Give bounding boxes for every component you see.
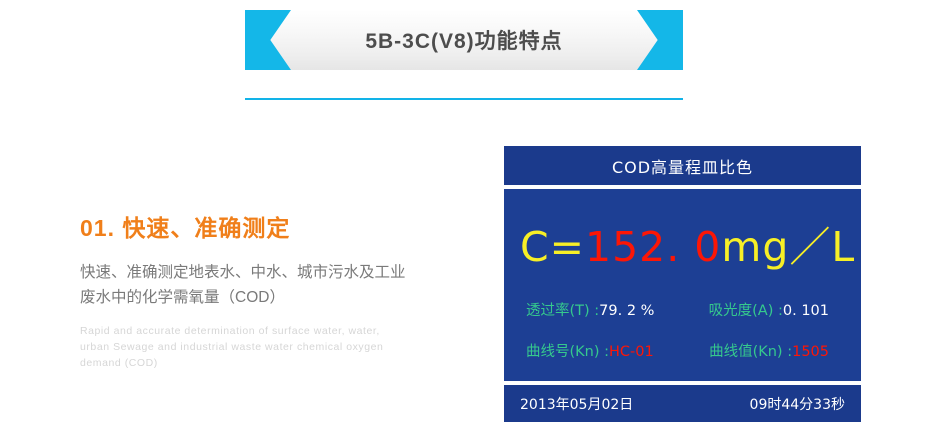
section-banner: 5B-3C(V8)功能特点	[245, 10, 683, 70]
curve-value-value: 1505	[792, 344, 829, 360]
device-mode-title: COD高量程皿比色	[612, 154, 753, 178]
device-main-reading: C=152. 0mg／L	[520, 189, 845, 273]
feature-heading: 01. 快速、准确测定	[80, 215, 430, 243]
curve-number-value: HC-01	[609, 344, 654, 360]
device-row-curve: 曲线号(Kn) :HC-01 曲线值(Kn) :1505	[520, 340, 845, 361]
reading-value: 152. 0	[585, 223, 721, 271]
transmittance-label: 透过率(T) :	[526, 303, 599, 319]
device-row-transmittance: 透过率(T) :79. 2 % 吸光度(A) :0. 101	[520, 299, 845, 320]
feature-body-text: 快速、准确测定地表水、中水、城市污水及工业废水中的化学需氧量（COD）	[80, 260, 410, 310]
absorbance-cell: 吸光度(A) :0. 101	[709, 299, 829, 320]
transmittance-value: 79. 2 %	[599, 303, 654, 319]
feature-text-column: 01. 快速、准确测定 快速、准确测定地表水、中水、城市污水及工业废水中的化学需…	[80, 215, 430, 372]
feature-subtitle-english: Rapid and accurate determination of surf…	[80, 323, 400, 372]
page-title: 5B-3C(V8)功能特点	[245, 10, 683, 70]
curve-value-label: 曲线值(Kn) :	[709, 344, 792, 360]
reading-unit: mg／L	[721, 223, 855, 271]
absorbance-value: 0. 101	[783, 303, 829, 319]
banner-underline-divider	[245, 98, 683, 100]
absorbance-label: 吸光度(A) :	[709, 303, 783, 319]
device-date: 2013年05月02日	[520, 394, 633, 414]
device-screen-footer: 2013年05月02日 09时44分33秒	[504, 385, 861, 422]
reading-prefix: C=	[520, 223, 585, 271]
device-screen-header: COD高量程皿比色	[504, 146, 861, 185]
curve-number-label: 曲线号(Kn) :	[526, 344, 609, 360]
curve-value-cell: 曲线值(Kn) :1505	[709, 340, 829, 361]
curve-number-cell: 曲线号(Kn) :HC-01	[526, 340, 654, 361]
page-root: 5B-3C(V8)功能特点 01. 快速、准确测定 快速、准确测定地表水、中水、…	[0, 0, 928, 429]
transmittance-cell: 透过率(T) :79. 2 %	[526, 299, 654, 320]
device-screen-body: C=152. 0mg／L 透过率(T) :79. 2 % 吸光度(A) :0. …	[504, 189, 861, 381]
device-screen-panel: COD高量程皿比色 C=152. 0mg／L 透过率(T) :79. 2 % 吸…	[504, 146, 861, 418]
device-time: 09时44分33秒	[750, 394, 845, 414]
